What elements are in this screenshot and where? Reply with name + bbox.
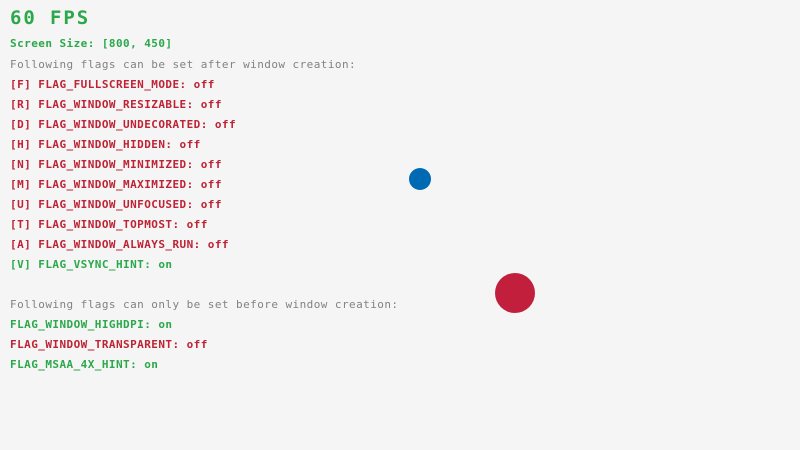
flag-row-flag-window-topmost[interactable]: [T] FLAG_WINDOW_TOPMOST: off: [10, 219, 208, 230]
screen-size-label: Screen Size: [800, 450]: [10, 38, 172, 49]
flag-row-flag-window-hidden[interactable]: [H] FLAG_WINDOW_HIDDEN: off: [10, 139, 201, 150]
maroon-ball: [495, 273, 535, 313]
flag-name: FLAG_FULLSCREEN_MODE:: [38, 78, 193, 91]
flag-name: FLAG_WINDOW_ALWAYS_RUN:: [38, 238, 208, 251]
flag-hotkey: [H]: [10, 138, 38, 151]
flag-state: on: [158, 318, 172, 331]
flag-name: FLAG_WINDOW_MINIMIZED:: [38, 158, 200, 171]
flag-row-flag-window-always-run[interactable]: [A] FLAG_WINDOW_ALWAYS_RUN: off: [10, 239, 229, 250]
flag-row-flag-window-resizable[interactable]: [R] FLAG_WINDOW_RESIZABLE: off: [10, 99, 222, 110]
flag-hotkey: [M]: [10, 178, 38, 191]
flag-hotkey: [D]: [10, 118, 38, 131]
flag-name: FLAG_WINDOW_HIDDEN:: [38, 138, 179, 151]
flag-row-flag-window-undecorated[interactable]: [D] FLAG_WINDOW_UNDECORATED: off: [10, 119, 236, 130]
fps-counter: 60 FPS: [10, 9, 90, 28]
flag-row-flag-fullscreen-mode[interactable]: [F] FLAG_FULLSCREEN_MODE: off: [10, 79, 215, 90]
flag-hotkey: [A]: [10, 238, 38, 251]
flag-state: off: [194, 78, 215, 91]
flag-hotkey: [F]: [10, 78, 38, 91]
flag-name: FLAG_WINDOW_RESIZABLE:: [38, 98, 200, 111]
flag-state: off: [187, 338, 208, 351]
flag-state: off: [201, 98, 222, 111]
flag-name: FLAG_VSYNC_HINT:: [38, 258, 158, 271]
flag-name: FLAG_WINDOW_UNFOCUSED:: [38, 198, 200, 211]
flag-name: FLAG_MSAA_4X_HINT:: [10, 358, 144, 371]
raylib-window-canvas[interactable]: 60 FPS Screen Size: [800, 450] Following…: [0, 0, 800, 450]
blue-ball: [409, 168, 431, 190]
flag-row-flag-vsync-hint[interactable]: [V] FLAG_VSYNC_HINT: on: [10, 259, 172, 270]
flag-name: FLAG_WINDOW_UNDECORATED:: [38, 118, 215, 131]
flag-hotkey: [T]: [10, 218, 38, 231]
flag-hotkey: [R]: [10, 98, 38, 111]
flag-row-flag-window-maximized[interactable]: [M] FLAG_WINDOW_MAXIMIZED: off: [10, 179, 222, 190]
flag-state: off: [215, 118, 236, 131]
flag-state: off: [201, 198, 222, 211]
flag-state: off: [201, 178, 222, 191]
flag-name: FLAG_WINDOW_TOPMOST:: [38, 218, 186, 231]
flag-row-flag-msaa-4x-hint[interactable]: FLAG_MSAA_4X_HINT: on: [10, 359, 158, 370]
flag-row-flag-window-minimized[interactable]: [N] FLAG_WINDOW_MINIMIZED: off: [10, 159, 222, 170]
section-header-after-creation: Following flags can be set after window …: [10, 59, 356, 70]
flag-state: on: [144, 358, 158, 371]
flag-name: FLAG_WINDOW_TRANSPARENT:: [10, 338, 187, 351]
flag-name: FLAG_WINDOW_HIGHDPI:: [10, 318, 158, 331]
flag-name: FLAG_WINDOW_MAXIMIZED:: [38, 178, 200, 191]
flag-row-flag-window-unfocused[interactable]: [U] FLAG_WINDOW_UNFOCUSED: off: [10, 199, 222, 210]
flag-state: off: [208, 238, 229, 251]
flag-row-flag-window-highdpi[interactable]: FLAG_WINDOW_HIGHDPI: on: [10, 319, 172, 330]
flag-state: off: [187, 218, 208, 231]
section-header-before-creation: Following flags can only be set before w…: [10, 299, 398, 310]
flag-state: off: [201, 158, 222, 171]
flag-hotkey: [U]: [10, 198, 38, 211]
flag-row-flag-window-transparent[interactable]: FLAG_WINDOW_TRANSPARENT: off: [10, 339, 208, 350]
flag-hotkey: [V]: [10, 258, 38, 271]
flag-state: off: [180, 138, 201, 151]
flag-state: on: [158, 258, 172, 271]
flag-hotkey: [N]: [10, 158, 38, 171]
